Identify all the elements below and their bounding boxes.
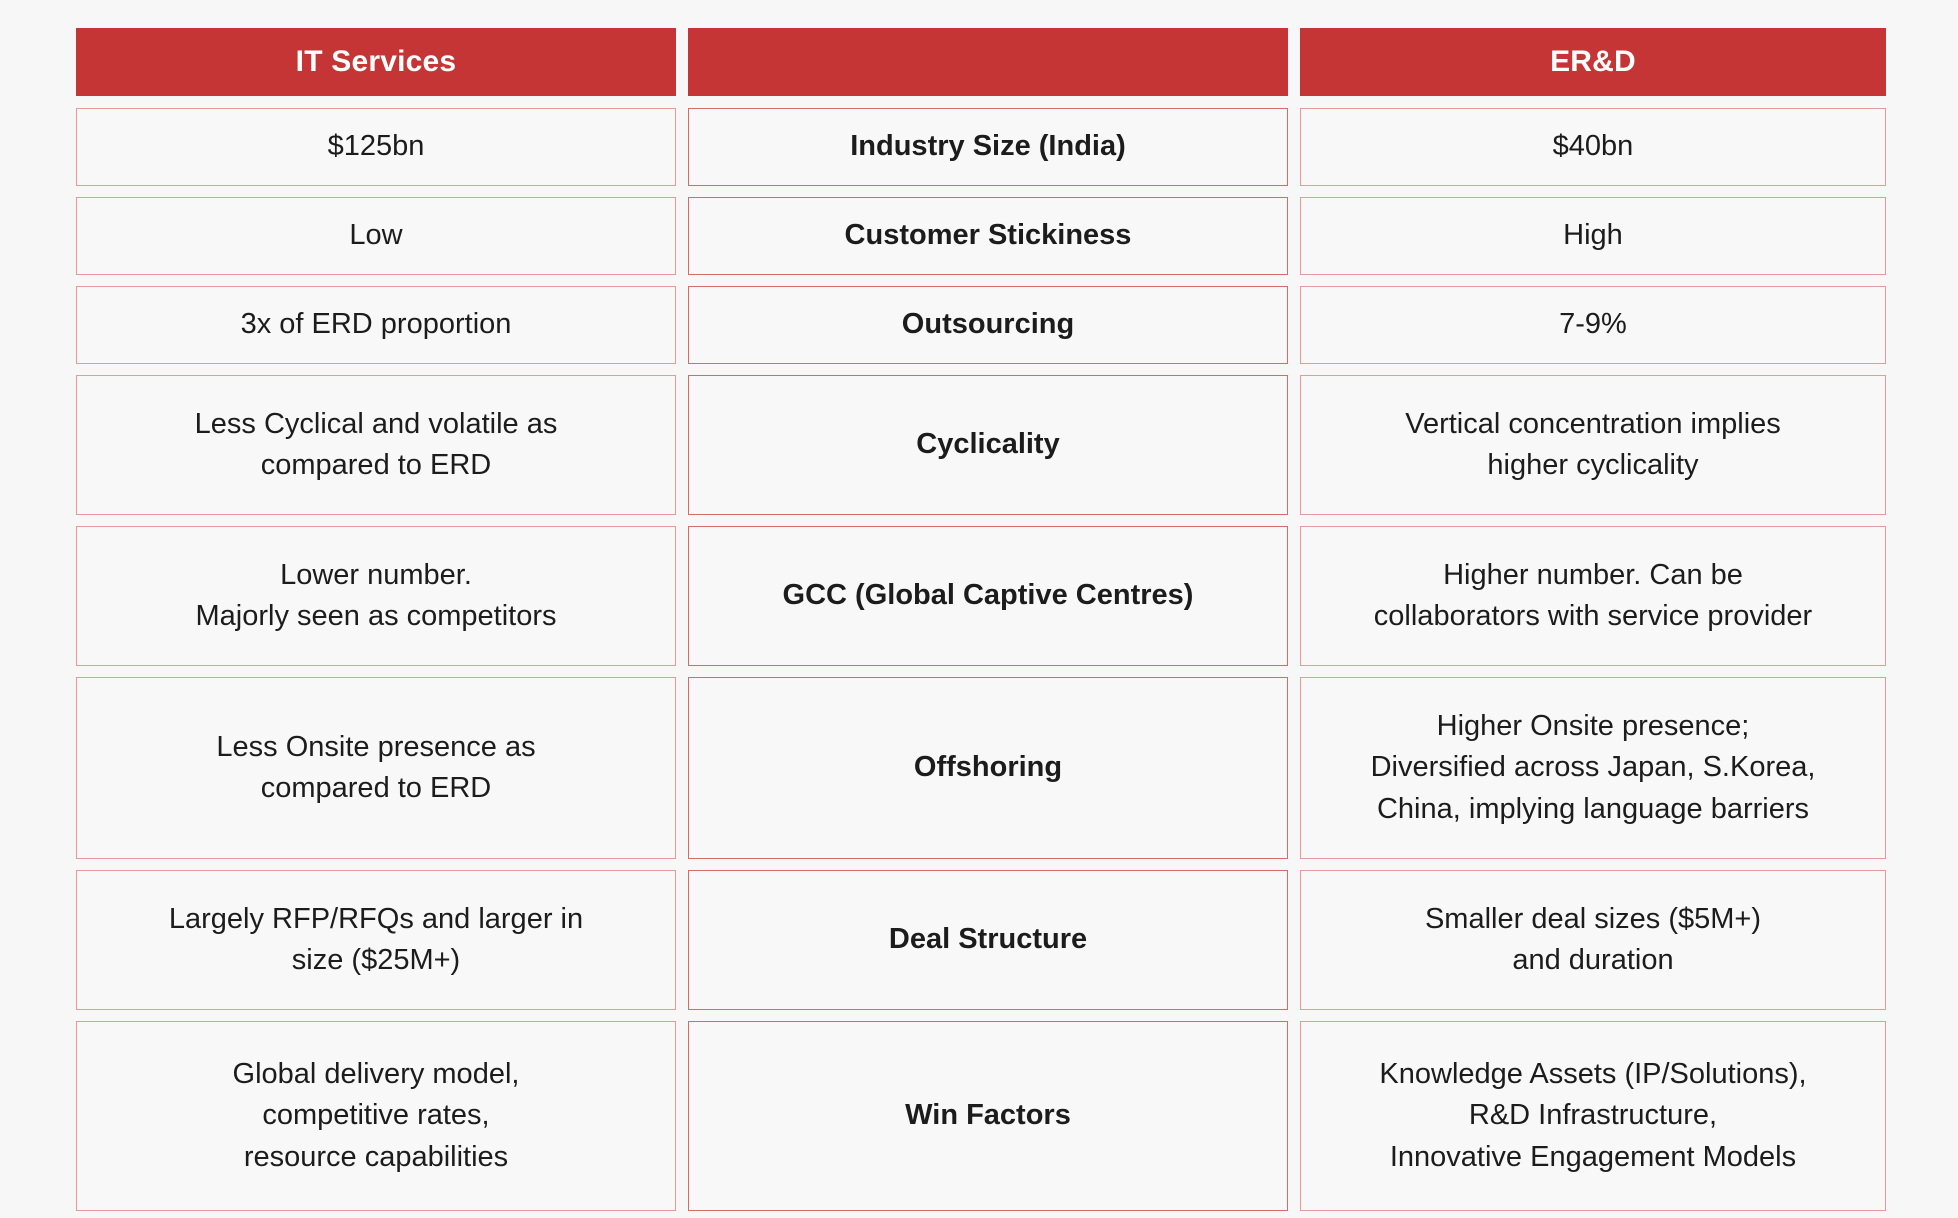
text-line: compared to ERD bbox=[195, 445, 558, 486]
cell-erd-text: 7-9% bbox=[1559, 304, 1627, 345]
text-line: resource capabilities bbox=[233, 1137, 520, 1178]
text-line: High bbox=[1563, 215, 1623, 256]
text-line: Win Factors bbox=[905, 1095, 1071, 1136]
cell-it-services-text: Lower number.Majorly seen as competitors bbox=[195, 555, 556, 637]
cell-attribute-label-text: Offshoring bbox=[914, 747, 1062, 788]
text-line: Less Onsite presence as bbox=[216, 727, 535, 768]
column-header-erd: ER&D bbox=[1300, 28, 1886, 96]
cell-erd: Higher Onsite presence;Diversified acros… bbox=[1300, 677, 1886, 859]
cell-erd-text: Vertical concentration implieshigher cyc… bbox=[1405, 404, 1781, 486]
cell-it-services: Less Cyclical and volatile ascompared to… bbox=[76, 375, 676, 515]
text-line: collaborators with service provider bbox=[1374, 596, 1812, 637]
text-line: competitive rates, bbox=[233, 1095, 520, 1136]
cell-erd-text: Smaller deal sizes ($5M+)and duration bbox=[1425, 899, 1761, 981]
text-line: Cyclicality bbox=[916, 424, 1059, 465]
cell-it-services-text: Global delivery model,competitive rates,… bbox=[233, 1054, 520, 1178]
text-line: Majorly seen as competitors bbox=[195, 596, 556, 637]
text-line: Lower number. bbox=[195, 555, 556, 596]
table-header-row: IT Services ER&D bbox=[76, 28, 1886, 96]
text-line: GCC (Global Captive Centres) bbox=[783, 575, 1194, 616]
text-line: Smaller deal sizes ($5M+) bbox=[1425, 899, 1761, 940]
table-row: LowCustomer StickinessHigh bbox=[76, 197, 1886, 275]
cell-it-services: $125bn bbox=[76, 108, 676, 186]
text-line: Low bbox=[349, 215, 402, 256]
text-line: Global delivery model, bbox=[233, 1054, 520, 1095]
cell-attribute-label: Offshoring bbox=[688, 677, 1288, 859]
cell-it-services: Less Onsite presence ascompared to ERD bbox=[76, 677, 676, 859]
cell-erd: High bbox=[1300, 197, 1886, 275]
cell-attribute-label-text: Industry Size (India) bbox=[850, 126, 1126, 167]
table-body: $125bnIndustry Size (India)$40bnLowCusto… bbox=[76, 108, 1886, 1211]
cell-attribute-label-text: Deal Structure bbox=[889, 919, 1087, 960]
text-line: Knowledge Assets (IP/Solutions), bbox=[1379, 1054, 1806, 1095]
cell-attribute-label: Outsourcing bbox=[688, 286, 1288, 364]
cell-attribute-label: Customer Stickiness bbox=[688, 197, 1288, 275]
cell-erd-text: High bbox=[1563, 215, 1623, 256]
comparison-table: IT Services ER&D $125bnIndustry Size (In… bbox=[0, 0, 1958, 1218]
table-row: 3x of ERD proportionOutsourcing7-9% bbox=[76, 286, 1886, 364]
table-row: Less Onsite presence ascompared to ERDOf… bbox=[76, 677, 1886, 859]
text-line: 3x of ERD proportion bbox=[241, 304, 512, 345]
text-line: Vertical concentration implies bbox=[1405, 404, 1781, 445]
text-line: Industry Size (India) bbox=[850, 126, 1126, 167]
text-line: Largely RFP/RFQs and larger in bbox=[169, 899, 583, 940]
cell-it-services-text: Low bbox=[349, 215, 402, 256]
cell-attribute-label-text: Outsourcing bbox=[902, 304, 1074, 345]
text-line: Customer Stickiness bbox=[845, 215, 1132, 256]
cell-erd-text: Higher number. Can becollaborators with … bbox=[1374, 555, 1812, 637]
text-line: and duration bbox=[1425, 940, 1761, 981]
text-line: size ($25M+) bbox=[169, 940, 583, 981]
cell-attribute-label: Win Factors bbox=[688, 1021, 1288, 1211]
text-line: R&D Infrastructure, bbox=[1379, 1095, 1806, 1136]
cell-it-services: Global delivery model,competitive rates,… bbox=[76, 1021, 676, 1211]
cell-it-services: Low bbox=[76, 197, 676, 275]
text-line: compared to ERD bbox=[216, 768, 535, 809]
cell-attribute-label: GCC (Global Captive Centres) bbox=[688, 526, 1288, 666]
text-line: Diversified across Japan, S.Korea, bbox=[1371, 747, 1816, 788]
cell-erd-text: Knowledge Assets (IP/Solutions),R&D Infr… bbox=[1379, 1054, 1806, 1178]
cell-erd: $40bn bbox=[1300, 108, 1886, 186]
cell-attribute-label-text: Cyclicality bbox=[916, 424, 1059, 465]
cell-attribute-label-text: Customer Stickiness bbox=[845, 215, 1132, 256]
cell-attribute-label-text: GCC (Global Captive Centres) bbox=[783, 575, 1194, 616]
cell-erd: 7-9% bbox=[1300, 286, 1886, 364]
cell-it-services: Lower number.Majorly seen as competitors bbox=[76, 526, 676, 666]
column-header-it-services: IT Services bbox=[76, 28, 676, 96]
text-line: Deal Structure bbox=[889, 919, 1087, 960]
text-line: China, implying language barriers bbox=[1371, 789, 1816, 830]
cell-it-services: 3x of ERD proportion bbox=[76, 286, 676, 364]
text-line: Innovative Engagement Models bbox=[1379, 1137, 1806, 1178]
table-row: Lower number.Majorly seen as competitors… bbox=[76, 526, 1886, 666]
cell-it-services: Largely RFP/RFQs and larger insize ($25M… bbox=[76, 870, 676, 1010]
cell-it-services-text: Less Onsite presence ascompared to ERD bbox=[216, 727, 535, 809]
table-row: Largely RFP/RFQs and larger insize ($25M… bbox=[76, 870, 1886, 1010]
cell-erd: Higher number. Can becollaborators with … bbox=[1300, 526, 1886, 666]
column-header-attribute bbox=[688, 28, 1288, 96]
cell-it-services-text: $125bn bbox=[328, 126, 425, 167]
text-line: higher cyclicality bbox=[1405, 445, 1781, 486]
cell-it-services-text: Largely RFP/RFQs and larger insize ($25M… bbox=[169, 899, 583, 981]
cell-attribute-label: Cyclicality bbox=[688, 375, 1288, 515]
cell-attribute-label: Industry Size (India) bbox=[688, 108, 1288, 186]
table-row: Global delivery model,competitive rates,… bbox=[76, 1021, 1886, 1211]
cell-attribute-label: Deal Structure bbox=[688, 870, 1288, 1010]
text-line: $125bn bbox=[328, 126, 425, 167]
text-line: Higher number. Can be bbox=[1374, 555, 1812, 596]
cell-erd-text: Higher Onsite presence;Diversified acros… bbox=[1371, 706, 1816, 830]
cell-erd: Knowledge Assets (IP/Solutions),R&D Infr… bbox=[1300, 1021, 1886, 1211]
cell-it-services-text: Less Cyclical and volatile ascompared to… bbox=[195, 404, 558, 486]
text-line: Outsourcing bbox=[902, 304, 1074, 345]
cell-erd: Smaller deal sizes ($5M+)and duration bbox=[1300, 870, 1886, 1010]
text-line: Offshoring bbox=[914, 747, 1062, 788]
text-line: 7-9% bbox=[1559, 304, 1627, 345]
table-row: Less Cyclical and volatile ascompared to… bbox=[76, 375, 1886, 515]
cell-attribute-label-text: Win Factors bbox=[905, 1095, 1071, 1136]
cell-erd: Vertical concentration implieshigher cyc… bbox=[1300, 375, 1886, 515]
text-line: Higher Onsite presence; bbox=[1371, 706, 1816, 747]
text-line: Less Cyclical and volatile as bbox=[195, 404, 558, 445]
text-line: $40bn bbox=[1553, 126, 1634, 167]
cell-erd-text: $40bn bbox=[1553, 126, 1634, 167]
table-row: $125bnIndustry Size (India)$40bn bbox=[76, 108, 1886, 186]
cell-it-services-text: 3x of ERD proportion bbox=[241, 304, 512, 345]
